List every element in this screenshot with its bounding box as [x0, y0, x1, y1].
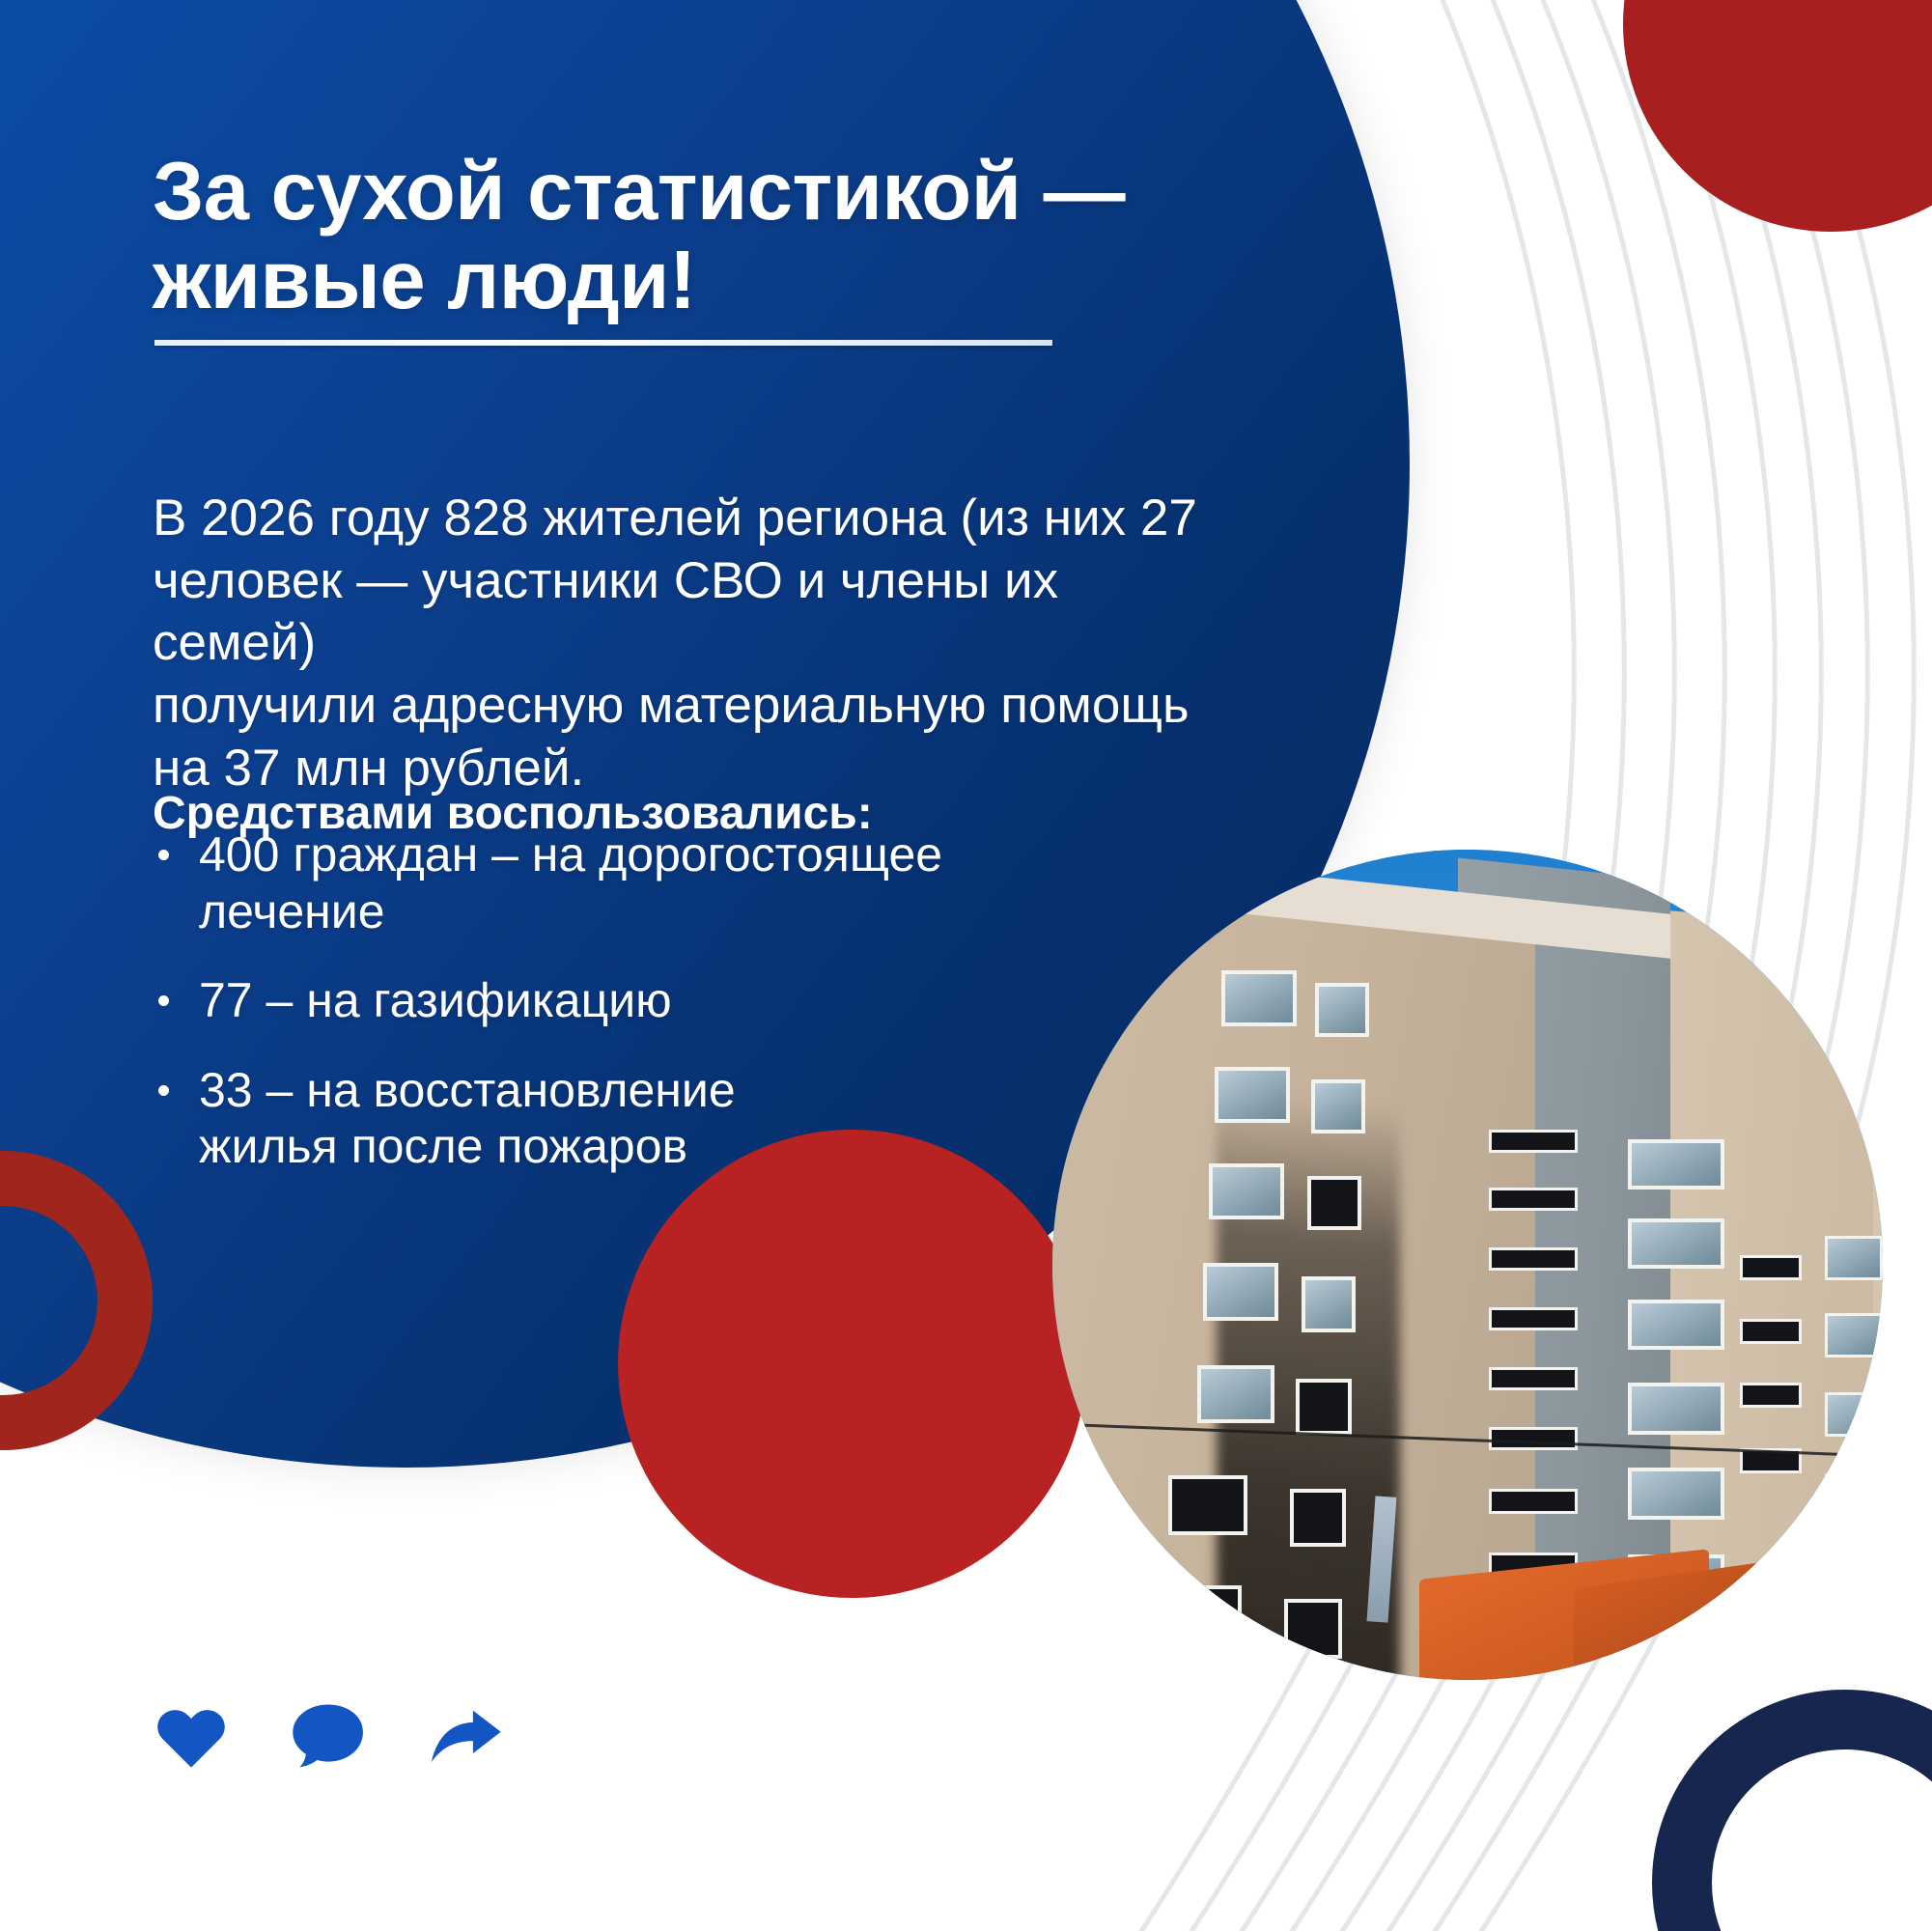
share-icon[interactable]	[427, 1701, 506, 1776]
benefits-list: 400 граждан – на дорогостоящее лечение 7…	[153, 826, 1128, 1208]
social-actions	[154, 1701, 506, 1776]
title-divider	[154, 340, 1052, 346]
red-ring-left	[0, 1151, 153, 1450]
list-item: 400 граждан – на дорогостоящее лечение	[153, 826, 1128, 939]
heart-icon[interactable]	[154, 1702, 228, 1775]
lede-paragraph: В 2026 году 828 жителей региона (из них …	[153, 488, 1205, 799]
navy-ring-bottom-right	[1652, 1690, 1932, 1931]
list-item: 77 – на газификацию	[153, 972, 1128, 1029]
social-post-card: За сухой статистикой — живые люди! В 202…	[0, 0, 1932, 1931]
list-item: 33 – на восстановление жилья после пожар…	[153, 1062, 1128, 1175]
comment-icon[interactable]	[288, 1701, 367, 1776]
red-circle-top-right	[1623, 0, 1932, 232]
building-photo	[1052, 850, 1883, 1680]
page-title: За сухой статистикой — живые люди!	[153, 148, 1176, 325]
